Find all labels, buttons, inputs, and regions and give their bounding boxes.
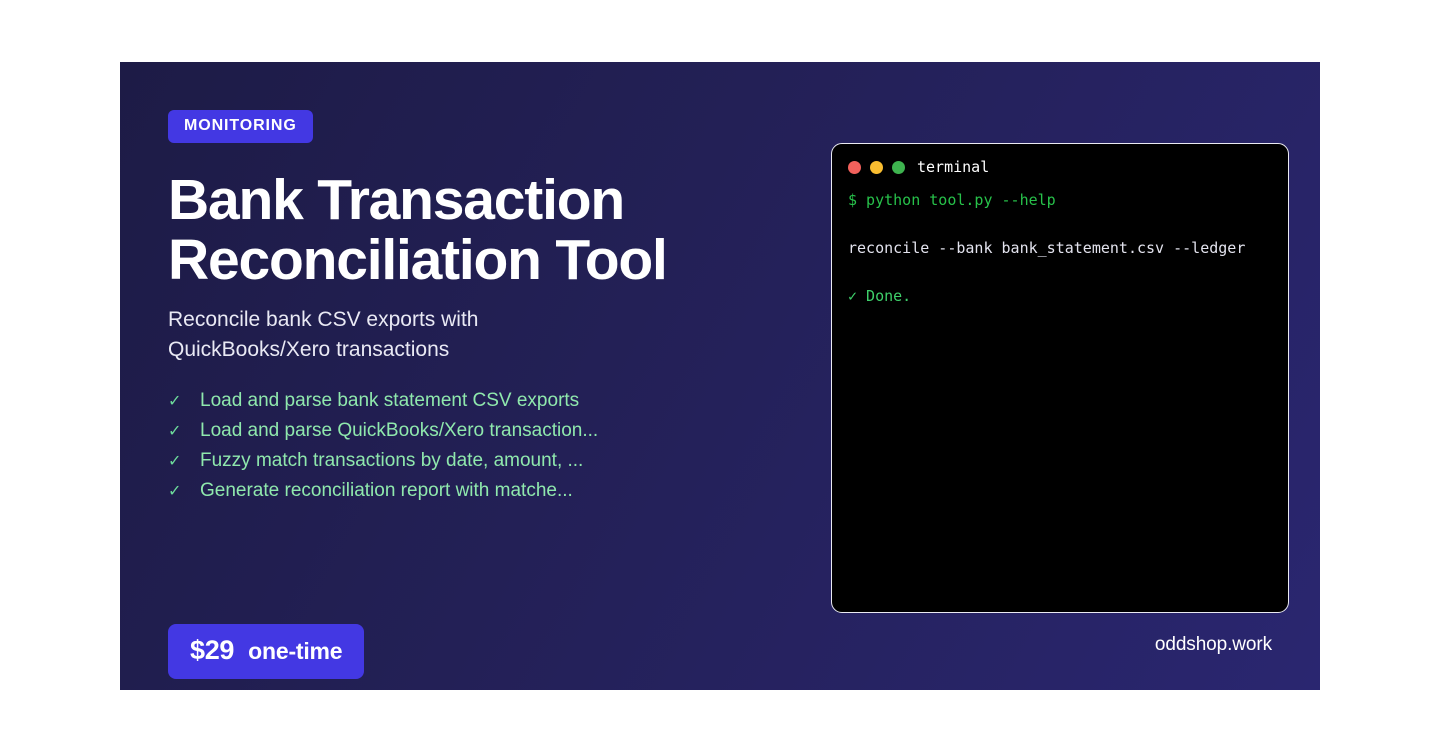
feature-label: Fuzzy match transactions by date, amount… [200, 451, 583, 470]
check-icon: ✓ [168, 394, 200, 410]
list-item: ✓ Generate reconciliation report with ma… [168, 481, 788, 500]
list-item: ✓ Load and parse QuickBooks/Xero transac… [168, 421, 788, 440]
price-amount: $29 [190, 635, 234, 666]
page-canvas: MONITORING Bank Transaction Reconciliati… [0, 0, 1440, 756]
feature-label: Load and parse QuickBooks/Xero transacti… [200, 421, 598, 440]
category-badge: MONITORING [168, 110, 313, 143]
terminal-line-command: $ python tool.py --help [848, 193, 1272, 208]
terminal-window: terminal $ python tool.py --help reconci… [831, 143, 1289, 613]
feature-label: Load and parse bank statement CSV export… [200, 391, 579, 410]
terminal-title: terminal [917, 160, 989, 175]
minimize-dot-icon[interactable] [870, 161, 883, 174]
feature-label: Generate reconciliation report with matc… [200, 481, 573, 500]
product-promo-card: MONITORING Bank Transaction Reconciliati… [120, 62, 1320, 690]
subtitle-text: Reconcile bank CSV exports with QuickBoo… [168, 305, 568, 365]
maximize-dot-icon[interactable] [892, 161, 905, 174]
feature-list: ✓ Load and parse bank statement CSV expo… [168, 391, 788, 500]
price-term: one-time [248, 638, 342, 665]
price-badge[interactable]: $29 one-time [168, 624, 364, 679]
check-icon: ✓ [168, 484, 200, 500]
page-title: Bank Transaction Reconciliation Tool [168, 170, 768, 291]
terminal-line-status: ✓ Done. [848, 289, 1272, 304]
check-icon: ✓ [168, 454, 200, 470]
card-left-column: MONITORING Bank Transaction Reconciliati… [168, 110, 788, 511]
list-item: ✓ Fuzzy match transactions by date, amou… [168, 451, 788, 470]
close-dot-icon[interactable] [848, 161, 861, 174]
terminal-output-area[interactable]: $ python tool.py --help reconcile --bank… [848, 193, 1272, 304]
check-icon: ✓ [168, 424, 200, 440]
terminal-titlebar: terminal [848, 158, 1272, 176]
site-domain-label: oddshop.work [1080, 634, 1272, 656]
terminal-line-output: reconcile --bank bank_statement.csv --le… [848, 241, 1272, 256]
list-item: ✓ Load and parse bank statement CSV expo… [168, 391, 788, 410]
